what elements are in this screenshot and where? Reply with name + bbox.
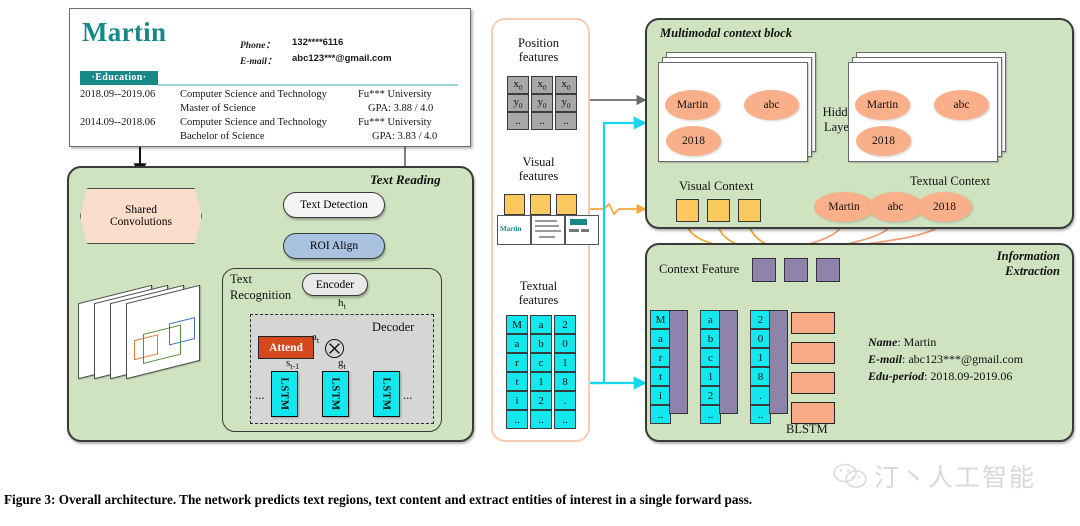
position-cell: y0	[555, 94, 577, 112]
textual-cell: r	[506, 353, 528, 372]
attend-block: Attend	[258, 336, 314, 359]
ie-output-row: Edu-period: 2018.09-2019.06	[868, 368, 1023, 385]
textual-cell: ..	[554, 410, 576, 429]
lstm-cell: LSTM	[322, 371, 349, 417]
lstm-label: LSTM	[330, 377, 342, 410]
encoder-block: Encoder	[302, 273, 368, 296]
thumb-line	[539, 236, 555, 238]
textual-features-title: Textual features	[491, 279, 586, 307]
ie-output-key: Name	[868, 335, 897, 349]
resume-row: Bachelor of Science GPA: 3.83 / 4.0	[80, 131, 460, 145]
ie-textual-cell: i	[650, 386, 671, 405]
ie-textual-cell: c	[700, 348, 721, 367]
h-t-label: ht	[338, 297, 346, 311]
position-cell: x0	[531, 76, 553, 94]
graph-node-abc-right: abc	[934, 90, 989, 120]
visual-thumbnail-contact	[531, 215, 565, 245]
resume-row-major: Bachelor of Science	[180, 131, 265, 142]
textual-cell: ..	[530, 410, 552, 429]
thumb-line	[535, 220, 557, 222]
textual-cell: 1	[554, 353, 576, 372]
context-feature-square	[752, 258, 776, 282]
textual-cell: b	[530, 334, 552, 353]
resume-education-tag: ·Education·	[80, 71, 158, 85]
g-t-sub: t	[344, 362, 346, 371]
visual-context-square	[738, 199, 761, 222]
position-cell: x0	[555, 76, 577, 94]
context-feature-label: Context Feature	[659, 262, 739, 277]
ie-title-line2: Extraction	[952, 264, 1060, 279]
position-cell: ..	[531, 112, 553, 130]
visual-context-square	[676, 199, 699, 222]
resume-rows: 2018.09--2019.06 Computer Science and Te…	[80, 89, 460, 145]
thumb-line	[581, 229, 589, 232]
information-extraction-title: Information Extraction	[952, 249, 1060, 279]
textual-cell: 0	[554, 334, 576, 353]
ie-textual-cell: ..	[700, 405, 721, 424]
position-cell: ..	[507, 112, 529, 130]
resume-phone-label: Phone：	[240, 37, 275, 51]
resume-row-period: 2018.09--2019.06	[80, 89, 155, 100]
watermark-text: 汀丶人工智能	[874, 458, 1036, 494]
thumb-line	[535, 225, 559, 227]
graph-node-martin: Martin	[665, 90, 720, 120]
textual-features-column: M a r t i ..	[506, 315, 528, 429]
resume-name: Martin	[82, 17, 166, 48]
visual-context-square	[707, 199, 730, 222]
textual-cell: c	[530, 353, 552, 372]
lstm-right-ellipsis: ...	[403, 388, 412, 403]
textual-cell: t	[506, 372, 528, 391]
ie-output-row: Name: Martin	[868, 334, 1023, 351]
textual-context-node-2018: 2018	[917, 192, 972, 222]
graph-node-2018-right: 2018	[856, 126, 911, 156]
resume-row: Master of Science GPA: 3.88 / 4.0	[80, 103, 460, 117]
position-features-column: x0 y0 ..	[531, 76, 553, 130]
ie-textual-cell: t	[650, 367, 671, 386]
ie-textual-cell: 8	[750, 367, 771, 386]
position-features-title-line2: features	[491, 50, 586, 64]
ie-textual-cell: a	[700, 310, 721, 329]
s-t-label: st-1	[286, 357, 299, 371]
ie-context-column	[669, 310, 688, 414]
textual-cell: i	[506, 391, 528, 410]
shared-convolutions-line1: Shared	[110, 204, 172, 216]
g-t-label: gt	[338, 357, 346, 371]
blstm-bar	[791, 372, 835, 394]
textual-context-node-abc: abc	[868, 192, 923, 222]
textual-cell: a	[530, 315, 552, 334]
resume-row: 2018.09--2019.06 Computer Science and Te…	[80, 89, 460, 103]
resume-row-right: GPA: 3.83 / 4.0	[372, 131, 437, 142]
text-recognition-label-line1: Text	[230, 272, 252, 287]
blstm-label: BLSTM	[786, 422, 828, 437]
blstm-bar	[791, 312, 835, 334]
ie-textual-column: M a r t i ..	[650, 310, 671, 424]
position-features-title-line1: Position	[491, 36, 586, 50]
resume-row-right: Fu*** University	[358, 89, 432, 100]
resume-document: Martin Phone： 132****6116 E-mail： abc123…	[69, 8, 471, 147]
resume-email-label: E-mail：	[240, 53, 276, 67]
context-feature-square	[816, 258, 840, 282]
ie-context-column	[769, 310, 788, 414]
ie-textual-cell: .	[750, 386, 771, 405]
resume-row-right: GPA: 3.88 / 4.0	[368, 103, 433, 114]
visual-thumbnail-education	[565, 215, 599, 245]
visual-feature-square	[530, 194, 551, 215]
textual-cell: M	[506, 315, 528, 334]
position-cell: x0	[507, 76, 529, 94]
textual-context-label: Textual Context	[910, 174, 990, 189]
a-t-label: at	[312, 331, 319, 345]
visual-features-title: Visual features	[491, 155, 586, 183]
position-cell: y0	[507, 94, 529, 112]
position-cell: y0	[531, 94, 553, 112]
text-recognition-label-line2: Recognition	[230, 288, 291, 303]
resume-divider	[158, 84, 458, 86]
resume-row-period: 2014.09--2018.06	[80, 117, 155, 128]
text-reading-title: Text Reading	[370, 172, 441, 188]
ie-context-column	[719, 310, 738, 414]
ie-textual-cell: r	[650, 348, 671, 367]
position-features-column: x0 y0 ..	[507, 76, 529, 130]
ie-textual-cell: ..	[750, 405, 771, 424]
lstm-left-ellipsis: ...	[255, 388, 264, 403]
ie-textual-column: 2 0 1 8 . ..	[750, 310, 771, 424]
wechat-icon	[832, 463, 868, 489]
ie-output-key: E-mail	[868, 352, 902, 366]
graph-node-martin-right: Martin	[855, 90, 910, 120]
lstm-label: LSTM	[381, 377, 393, 410]
visual-feature-square	[504, 194, 525, 215]
thumb-tealbar	[570, 219, 587, 225]
visual-features-title-line1: Visual	[491, 155, 586, 169]
visual-thumbnail-name-text: Martin	[500, 225, 521, 233]
visual-feature-square	[556, 194, 577, 215]
ie-output-value: 2018.09-2019.06	[930, 369, 1012, 383]
resume-row: 2014.09--2018.06 Computer Science and Te…	[80, 117, 460, 131]
shared-convolutions-block: Shared Convolutions	[80, 188, 202, 244]
s-t-sub: t-1	[290, 362, 299, 371]
ie-textual-cell: 0	[750, 329, 771, 348]
ie-textual-cell: 1	[700, 367, 721, 386]
textual-cell: ..	[506, 410, 528, 429]
feature-map-stack	[78, 278, 208, 383]
blstm-bar	[791, 342, 835, 364]
visual-thumbnail-name: Martin	[497, 215, 531, 245]
ie-output-list: Name: Martin E-mail: abc123***@gmail.com…	[868, 334, 1023, 385]
resume-row-major: Computer Science and Technology	[180, 89, 327, 100]
visual-features-title-line2: features	[491, 169, 586, 183]
ie-title-line1: Information	[952, 249, 1060, 264]
text-detection-block: Text Detection	[283, 192, 385, 218]
ie-textual-cell: b	[700, 329, 721, 348]
textual-features-column: 2 0 1 8 . ..	[554, 315, 576, 429]
lstm-cell: LSTM	[373, 371, 400, 417]
figure-caption: Figure 3: Overall architecture. The netw…	[4, 492, 752, 508]
resume-row-major: Computer Science and Technology	[180, 117, 327, 128]
shared-convolutions-line2: Convolutions	[110, 216, 172, 228]
graph-node-2018: 2018	[666, 126, 721, 156]
ie-output-row: E-mail: abc123***@gmail.com	[868, 351, 1023, 368]
resume-email-value: abc123***@gmail.com	[292, 53, 392, 64]
blstm-bar	[791, 402, 835, 424]
multiply-operator-icon	[325, 339, 344, 358]
detected-box-blue	[169, 317, 195, 345]
figure-canvas: Martin Phone： 132****6116 E-mail： abc123…	[0, 0, 1080, 526]
textual-cell: 1	[530, 372, 552, 391]
ie-output-key: Edu-period	[868, 369, 924, 383]
ie-textual-cell: a	[650, 329, 671, 348]
roi-align-block: ROI Align	[283, 233, 385, 259]
ie-textual-column: a b c 1 2 ..	[700, 310, 721, 424]
textual-cell: a	[506, 334, 528, 353]
textual-cell: .	[554, 391, 576, 410]
resume-row-right: Fu*** University	[358, 117, 432, 128]
textual-cell: 2	[554, 315, 576, 334]
resume-row-major: Master of Science	[180, 103, 256, 114]
visual-context-label: Visual Context	[679, 179, 754, 194]
position-features-title: Position features	[491, 36, 586, 64]
decoder-label: Decoder	[372, 320, 414, 335]
textual-cell: 8	[554, 372, 576, 391]
graph-node-abc: abc	[744, 90, 799, 120]
lstm-cell: LSTM	[271, 371, 298, 417]
h-t-sub: t	[344, 302, 346, 311]
position-cell: ..	[555, 112, 577, 130]
ie-textual-cell: 1	[750, 348, 771, 367]
context-feature-square	[784, 258, 808, 282]
ie-textual-cell: 2	[700, 386, 721, 405]
lstm-label: LSTM	[279, 377, 291, 410]
a-t-sub: t	[317, 336, 319, 345]
textual-context-node-martin: Martin	[814, 192, 874, 222]
thumb-line	[535, 230, 561, 232]
textual-features-title-line1: Textual	[491, 279, 586, 293]
ie-output-value: abc123***@gmail.com	[908, 352, 1023, 366]
multimodal-context-title: Multimodal context block	[660, 26, 792, 41]
position-features-column: x0 y0 ..	[555, 76, 577, 130]
textual-features-column: a b c 1 2 ..	[530, 315, 552, 429]
ie-textual-cell: M	[650, 310, 671, 329]
resume-phone-value: 132****6116	[292, 37, 343, 48]
textual-cell: 2	[530, 391, 552, 410]
thumb-line	[569, 229, 579, 232]
ie-textual-cell: 2	[750, 310, 771, 329]
ie-textual-cell: ..	[650, 405, 671, 424]
textual-features-title-line2: features	[491, 293, 586, 307]
watermark: 汀丶人工智能	[832, 458, 1036, 494]
ie-output-value: Martin	[904, 335, 937, 349]
